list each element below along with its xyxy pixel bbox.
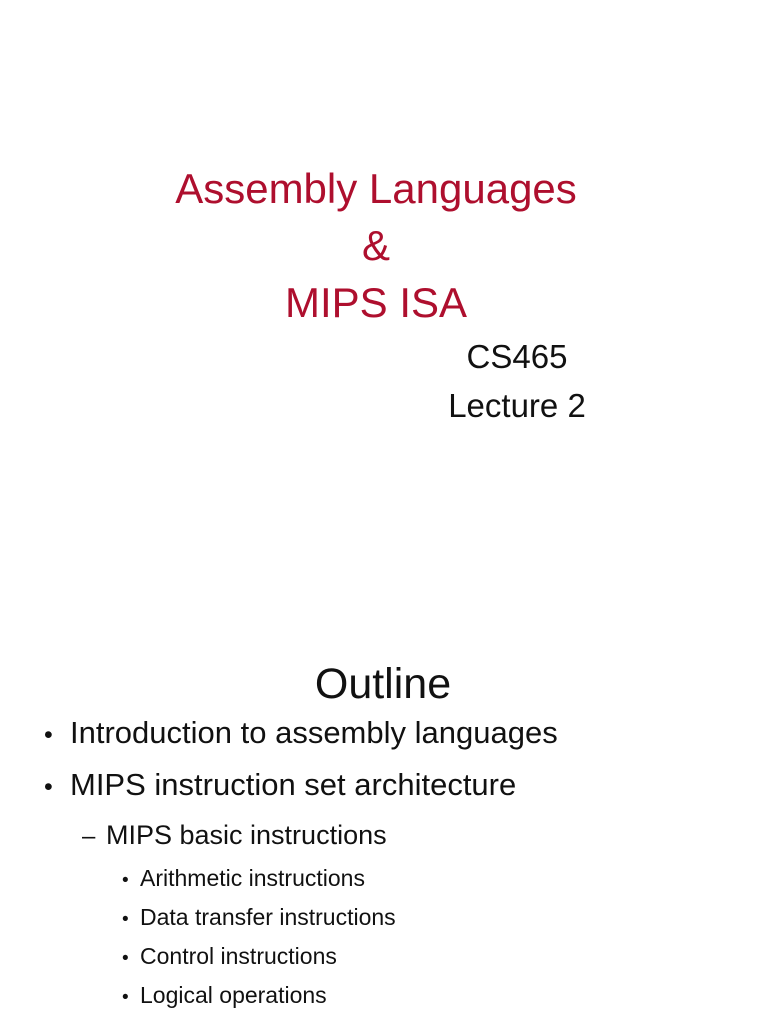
dash-icon: – — [82, 1018, 106, 1024]
list-item: • Introduction to assembly languages — [0, 708, 768, 760]
bullet-icon: • — [44, 710, 70, 760]
course-code: CS465 — [0, 332, 768, 381]
list-item-label: MIPS instruction format — [106, 1016, 387, 1024]
outline-heading: Outline — [0, 658, 766, 710]
list-item: • Data transfer instructions — [0, 899, 768, 938]
title-slide: Assembly Languages & MIPS ISA CS465 Lect… — [0, 0, 768, 600]
outline-slide: Outline • Introduction to assembly langu… — [0, 600, 768, 1024]
list-item-label: Arithmetic instructions — [140, 860, 365, 897]
list-item: • MIPS instruction set architecture — [0, 760, 768, 812]
slide-page: Assembly Languages & MIPS ISA CS465 Lect… — [0, 0, 768, 1024]
lecture-number: Lecture 2 — [0, 381, 768, 430]
presentation-title: Assembly Languages & MIPS ISA — [0, 160, 752, 331]
presentation-subtitle: CS465 Lecture 2 — [0, 332, 768, 430]
bullet-icon: • — [122, 940, 140, 977]
outline-list: • Introduction to assembly languages • M… — [0, 708, 768, 1024]
title-line-2: & — [0, 217, 752, 274]
list-item-label: MIPS instruction set architecture — [70, 760, 516, 810]
title-line-1: Assembly Languages — [0, 160, 752, 217]
title-line-3: MIPS ISA — [0, 274, 752, 331]
list-item: • Arithmetic instructions — [0, 860, 768, 899]
dash-icon: – — [82, 814, 106, 860]
list-item: – MIPS instruction format — [0, 1016, 768, 1024]
list-item: • Logical operations — [0, 977, 768, 1016]
bullet-icon: • — [122, 901, 140, 938]
list-item: • Control instructions — [0, 938, 768, 977]
list-item-label: Logical operations — [140, 977, 327, 1014]
bullet-icon: • — [122, 979, 140, 1016]
list-item-label: MIPS basic instructions — [106, 812, 387, 858]
list-item: – MIPS basic instructions — [0, 812, 768, 860]
list-item-label: Introduction to assembly languages — [70, 708, 558, 758]
list-item-label: Control instructions — [140, 938, 337, 975]
list-item-label: Data transfer instructions — [140, 899, 396, 936]
bullet-icon: • — [44, 762, 70, 812]
bullet-icon: • — [122, 862, 140, 899]
